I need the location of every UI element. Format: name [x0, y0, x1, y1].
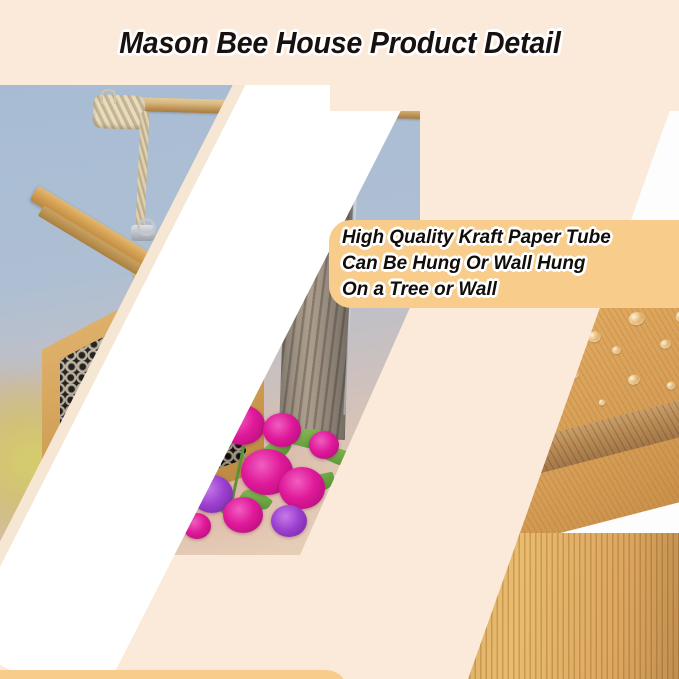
- water-droplet: [598, 399, 606, 407]
- feature-callout-bottom: BEESWAX COATED WATERPROOF AND DURABLE: [0, 670, 348, 679]
- photo-area: High Quality Kraft Paper Tube Can Be Hun…: [0, 85, 679, 679]
- water-droplet: [659, 338, 672, 349]
- water-droplet: [627, 373, 641, 386]
- product-detail-page: Mason Bee House Product Detail: [0, 0, 679, 679]
- callout-top-line-1: High Quality Kraft Paper Tube: [342, 225, 669, 251]
- water-droplet: [541, 355, 549, 363]
- flower-bloom: [263, 413, 301, 447]
- page-title-bar: Mason Bee House Product Detail: [0, 0, 679, 85]
- screw-eye-hardware: [446, 332, 461, 361]
- top-right-cream-band: [330, 85, 679, 111]
- water-droplet: [627, 310, 646, 327]
- flower-bloom: [223, 497, 263, 533]
- callout-bottom-line-1: BEESWAX COATED: [12, 676, 338, 679]
- screw-eye-ring: [442, 321, 470, 348]
- feature-callout-top: High Quality Kraft Paper Tube Can Be Hun…: [329, 220, 679, 308]
- flower-bloom: [279, 467, 325, 509]
- water-droplet: [666, 381, 677, 391]
- rope-hook-icon: [101, 89, 116, 104]
- callout-top-line-3: On a Tree or Wall: [342, 277, 669, 303]
- flower-bloom: [271, 505, 307, 537]
- water-droplet: [570, 370, 579, 379]
- flower-bloom: [309, 431, 339, 459]
- water-droplet: [611, 345, 622, 355]
- water-droplet: [587, 330, 602, 344]
- water-droplet: [674, 309, 679, 324]
- house-front-wall: [392, 533, 679, 679]
- page-title: Mason Bee House Product Detail: [119, 25, 560, 61]
- callout-top-line-2: Can Be Hung Or Wall Hung: [342, 251, 669, 277]
- screw-eye-ring: [137, 218, 156, 236]
